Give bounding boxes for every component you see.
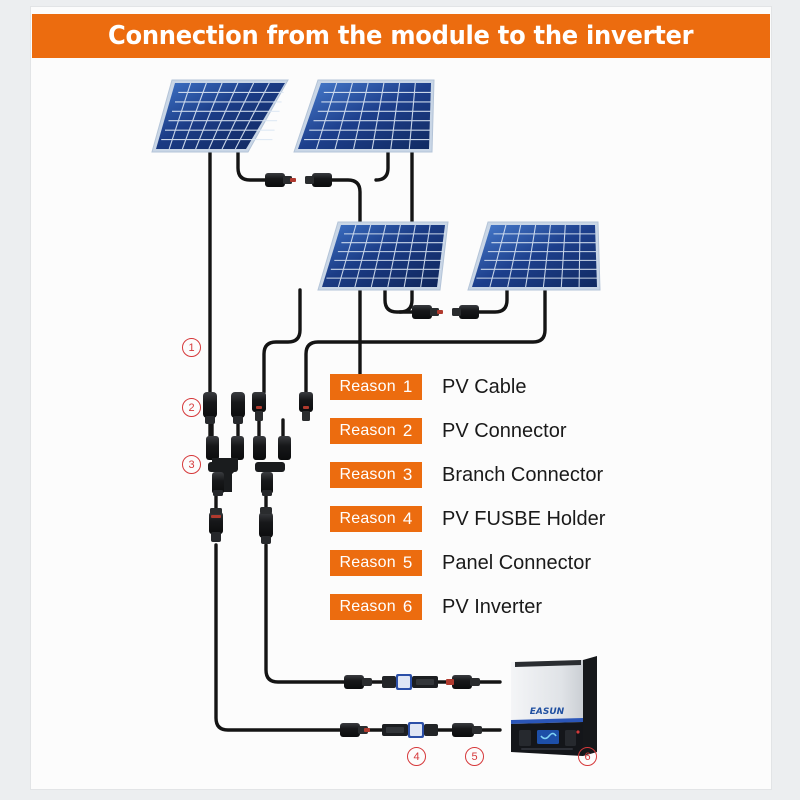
legend-badge-text-2: Reason bbox=[339, 422, 395, 440]
legend-item-5: Reason 5 Panel Connector bbox=[330, 548, 670, 578]
legend-badge-text-6: Reason bbox=[339, 598, 395, 616]
legend-label-6: PV Inverter bbox=[442, 596, 542, 619]
diagram-page: Connection from the module to the invert… bbox=[0, 0, 800, 800]
legend-badge-3: Reason 3 bbox=[330, 462, 422, 488]
legend-label-2: PV Connector bbox=[442, 420, 567, 443]
pv-inverter[interactable]: EASUN bbox=[497, 652, 605, 760]
legend-badge-5: Reason 5 bbox=[330, 550, 422, 576]
legend-badge-6: Reason 6 bbox=[330, 594, 422, 620]
legend-badge-number-6: 6 bbox=[403, 597, 413, 617]
legend-badge-number-4: 4 bbox=[403, 509, 413, 529]
callout-3: 3 bbox=[182, 455, 201, 474]
legend-item-3: Reason 3 Branch Connector bbox=[330, 460, 670, 490]
legend-item-6: Reason 6 PV Inverter bbox=[330, 592, 670, 622]
legend-item-2: Reason 2 PV Connector bbox=[330, 416, 670, 446]
legend: Reason 1 PV Cable Reason 2 PV Connector … bbox=[330, 372, 670, 636]
callout-2: 2 bbox=[182, 398, 201, 417]
legend-badge-text-4: Reason bbox=[339, 510, 395, 528]
page-title: Connection from the module to the invert… bbox=[108, 21, 693, 51]
callout-6: 6 bbox=[578, 747, 597, 766]
inverter-brand: EASUN bbox=[530, 707, 565, 717]
callout-4: 4 bbox=[407, 747, 426, 766]
legend-label-3: Branch Connector bbox=[442, 464, 603, 487]
legend-badge-1: Reason 1 bbox=[330, 374, 422, 400]
legend-badge-2: Reason 2 bbox=[330, 418, 422, 444]
callout-5: 5 bbox=[465, 747, 484, 766]
legend-item-1: Reason 1 PV Cable bbox=[330, 372, 670, 402]
legend-badge-text-5: Reason bbox=[339, 554, 395, 572]
legend-badge-text-3: Reason bbox=[339, 466, 395, 484]
legend-badge-number-5: 5 bbox=[403, 553, 413, 573]
legend-badge-number-1: 1 bbox=[403, 377, 413, 397]
legend-label-1: PV Cable bbox=[442, 376, 527, 399]
legend-item-4: Reason 4 PV FUSBE Holder bbox=[330, 504, 670, 534]
legend-badge-number-2: 2 bbox=[403, 421, 413, 441]
legend-badge-4: Reason 4 bbox=[330, 506, 422, 532]
legend-label-5: Panel Connector bbox=[442, 552, 591, 575]
legend-badge-number-3: 3 bbox=[403, 465, 413, 485]
legend-badge-text-1: Reason bbox=[339, 378, 395, 396]
callout-1: 1 bbox=[182, 338, 201, 357]
header-banner: Connection from the module to the invert… bbox=[32, 14, 770, 58]
legend-label-4: PV FUSBE Holder bbox=[442, 508, 605, 531]
